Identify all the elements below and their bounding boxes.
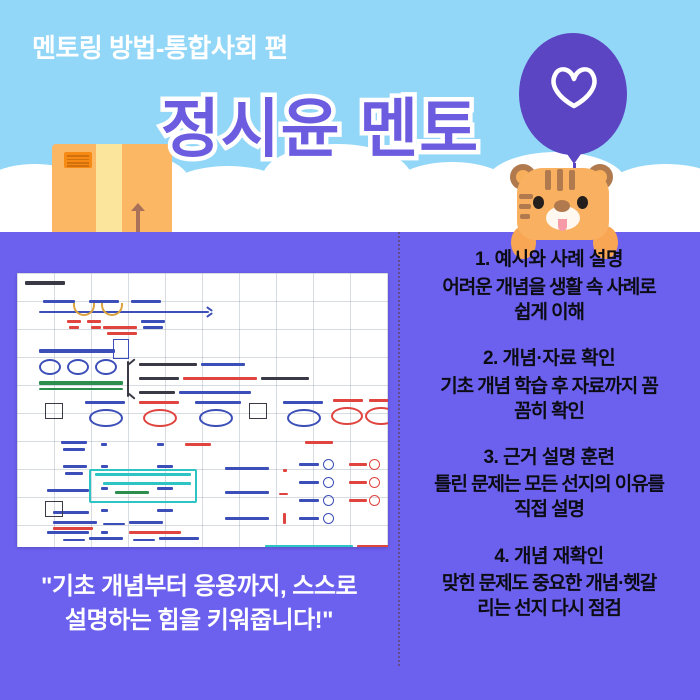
list-item-desc-line2: 쉽게 이해 [404, 300, 694, 325]
list-item-desc-line2: 직접 설명 [404, 497, 694, 522]
list-item[interactable]: 2. 개념·자료 확인 기초 개념 학습 후 자료까지 꼼 꼼히 확인 [398, 347, 700, 424]
page-title: 정시윤 멘토 [0, 78, 640, 170]
list-item[interactable]: 3. 근거 설명 훈련 틀린 문제는 모든 선지의 이유를 직접 설명 [398, 446, 700, 523]
list-item[interactable]: 1. 예시와 사례 설명 어려운 개념을 생활 속 사례로 쉽게 이해 [398, 248, 700, 325]
list-item-title: 3. 근거 설명 훈련 [404, 446, 694, 471]
handwritten-notes-image[interactable] [17, 273, 388, 547]
quote-text: "기초 개념부터 응용까지, 스스로 설명하는 힘을 키워줍니다!" [0, 570, 398, 638]
list-item-desc-line2: 리는 선지 다시 점검 [404, 596, 694, 621]
tiger-mascot-icon [505, 160, 635, 255]
quote-line-1: "기초 개념부터 응용까지, 스스로 [0, 570, 398, 604]
handwriting-strokes [17, 273, 388, 547]
list-item-desc-line1: 기초 개념 학습 후 자료까지 꼼 [404, 374, 694, 399]
header-subtitle: 멘토링 방법-통합사회 편 [32, 28, 288, 65]
list-item-title: 1. 예시와 사례 설명 [404, 248, 694, 273]
infographic-canvas: 멘토링 방법-통합사회 편 정시윤 멘토 [0, 0, 700, 700]
list-item-desc-line1: 어려운 개념을 생활 속 사례로 [404, 275, 694, 300]
list-item[interactable]: 4. 개념 재확인 맞힌 문제도 중요한 개념·헷갈 리는 선지 다시 점검 [398, 545, 700, 622]
box-arrow-icon [136, 210, 140, 232]
list-item-desc-line2: 꼼히 확인 [404, 399, 694, 424]
list-item-title: 4. 개념 재확인 [404, 545, 694, 570]
list-item-desc-line1: 틀린 문제는 모든 선지의 이유를 [404, 472, 694, 497]
list-item-desc-line1: 맞힌 문제도 중요한 개념·헷갈 [404, 571, 694, 596]
list-item-title: 2. 개념·자료 확인 [404, 347, 694, 372]
method-list: 1. 예시와 사례 설명 어려운 개념을 생활 속 사례로 쉽게 이해 2. 개… [398, 248, 700, 643]
quote-line-2: 설명하는 힘을 키워줍니다!" [0, 604, 398, 638]
